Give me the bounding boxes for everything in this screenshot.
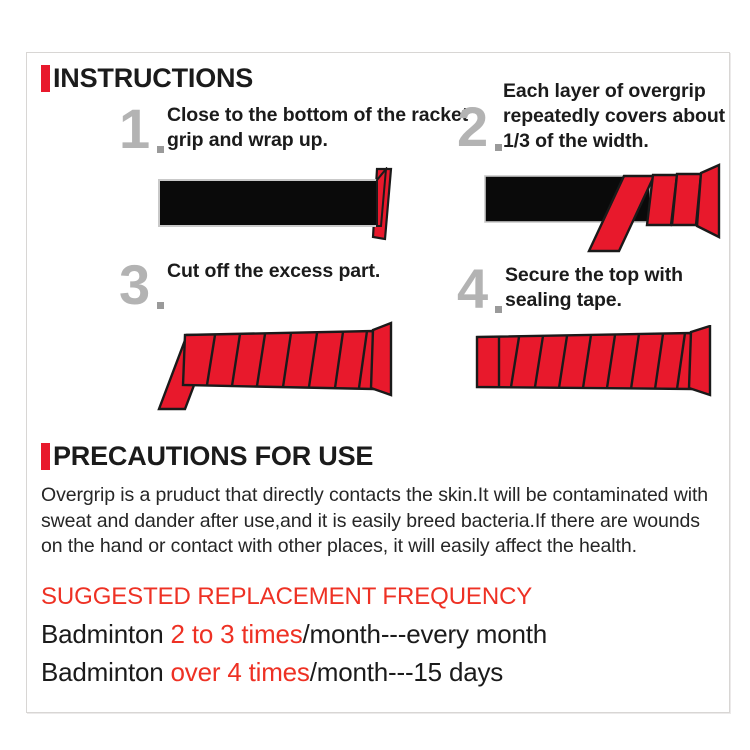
step-1-number: 1	[119, 101, 150, 157]
step-2-diagram	[467, 163, 742, 263]
grip-finished-with-sealing-tape-icon	[467, 325, 717, 405]
step-3-bullet-icon	[157, 302, 164, 309]
step-3-diagram	[145, 321, 400, 421]
instructions-title: INSTRUCTIONS	[53, 65, 253, 92]
step-4-bullet-icon	[495, 306, 502, 313]
step-4-diagram	[467, 325, 717, 410]
step-4: 4 Secure the top with sealing tape.	[457, 261, 747, 325]
step-2-text: Each layer of overgrip repeatedly covers…	[503, 79, 750, 154]
step-2-bullet-icon	[495, 144, 502, 151]
frequency-line-1-sport: Badminton	[41, 619, 171, 649]
step-4-header: 4 Secure the top with sealing tape.	[457, 261, 747, 325]
frequency-line-1-rest: /month---every month	[303, 619, 548, 649]
step-1: 1 Close to the bottom of the racket grip…	[119, 105, 469, 169]
frequency-line-2-highlight: over 4 times	[171, 657, 310, 687]
step-3-header: 3 Cut off the excess part.	[119, 261, 449, 325]
replacement-frequency-title: SUGGESTED REPLACEMENT FREQUENCY	[41, 583, 532, 611]
step-1-diagram	[145, 167, 395, 252]
red-bar-icon	[41, 65, 50, 92]
frequency-line-2: Badminton over 4 times/month---15 days	[41, 657, 503, 688]
grip-fully-wrapped-red-with-tail-icon	[145, 321, 400, 416]
step-3-text: Cut off the excess part.	[167, 259, 380, 284]
grip-partially-wrapped-red-overlap-icon	[467, 163, 742, 258]
step-2-number: 2	[457, 99, 488, 155]
step-1-bullet-icon	[157, 146, 164, 153]
red-bar-icon	[41, 443, 50, 470]
instruction-card-page: INSTRUCTIONS 1 Close to the bottom of th…	[0, 0, 750, 750]
step-4-text: Secure the top with sealing tape.	[505, 263, 747, 313]
step-1-text: Close to the bottom of the racket grip a…	[167, 103, 469, 153]
precautions-title: PRECAUTIONS FOR USE	[53, 443, 373, 470]
precautions-heading: PRECAUTIONS FOR USE	[41, 443, 373, 470]
precautions-body-text: Overgrip is a pruduct that directly cont…	[41, 483, 723, 560]
step-1-header: 1 Close to the bottom of the racket grip…	[119, 105, 469, 169]
instructions-heading: INSTRUCTIONS	[41, 65, 253, 92]
frequency-line-2-sport: Badminton	[41, 657, 171, 687]
frequency-line-1-highlight: 2 to 3 times	[171, 619, 303, 649]
step-3-number: 3	[119, 257, 150, 313]
step-2: 2 Each layer of overgrip repeatedly cove…	[457, 83, 750, 147]
instruction-card: INSTRUCTIONS 1 Close to the bottom of th…	[26, 52, 730, 713]
step-2-header: 2 Each layer of overgrip repeatedly cove…	[457, 83, 750, 147]
step-4-number: 4	[457, 261, 488, 317]
grip-black-bar-with-red-tab-icon	[145, 167, 395, 247]
frequency-line-1: Badminton 2 to 3 times/month---every mon…	[41, 619, 547, 650]
step-3: 3 Cut off the excess part.	[119, 261, 449, 325]
frequency-line-2-rest: /month---15 days	[310, 657, 503, 687]
